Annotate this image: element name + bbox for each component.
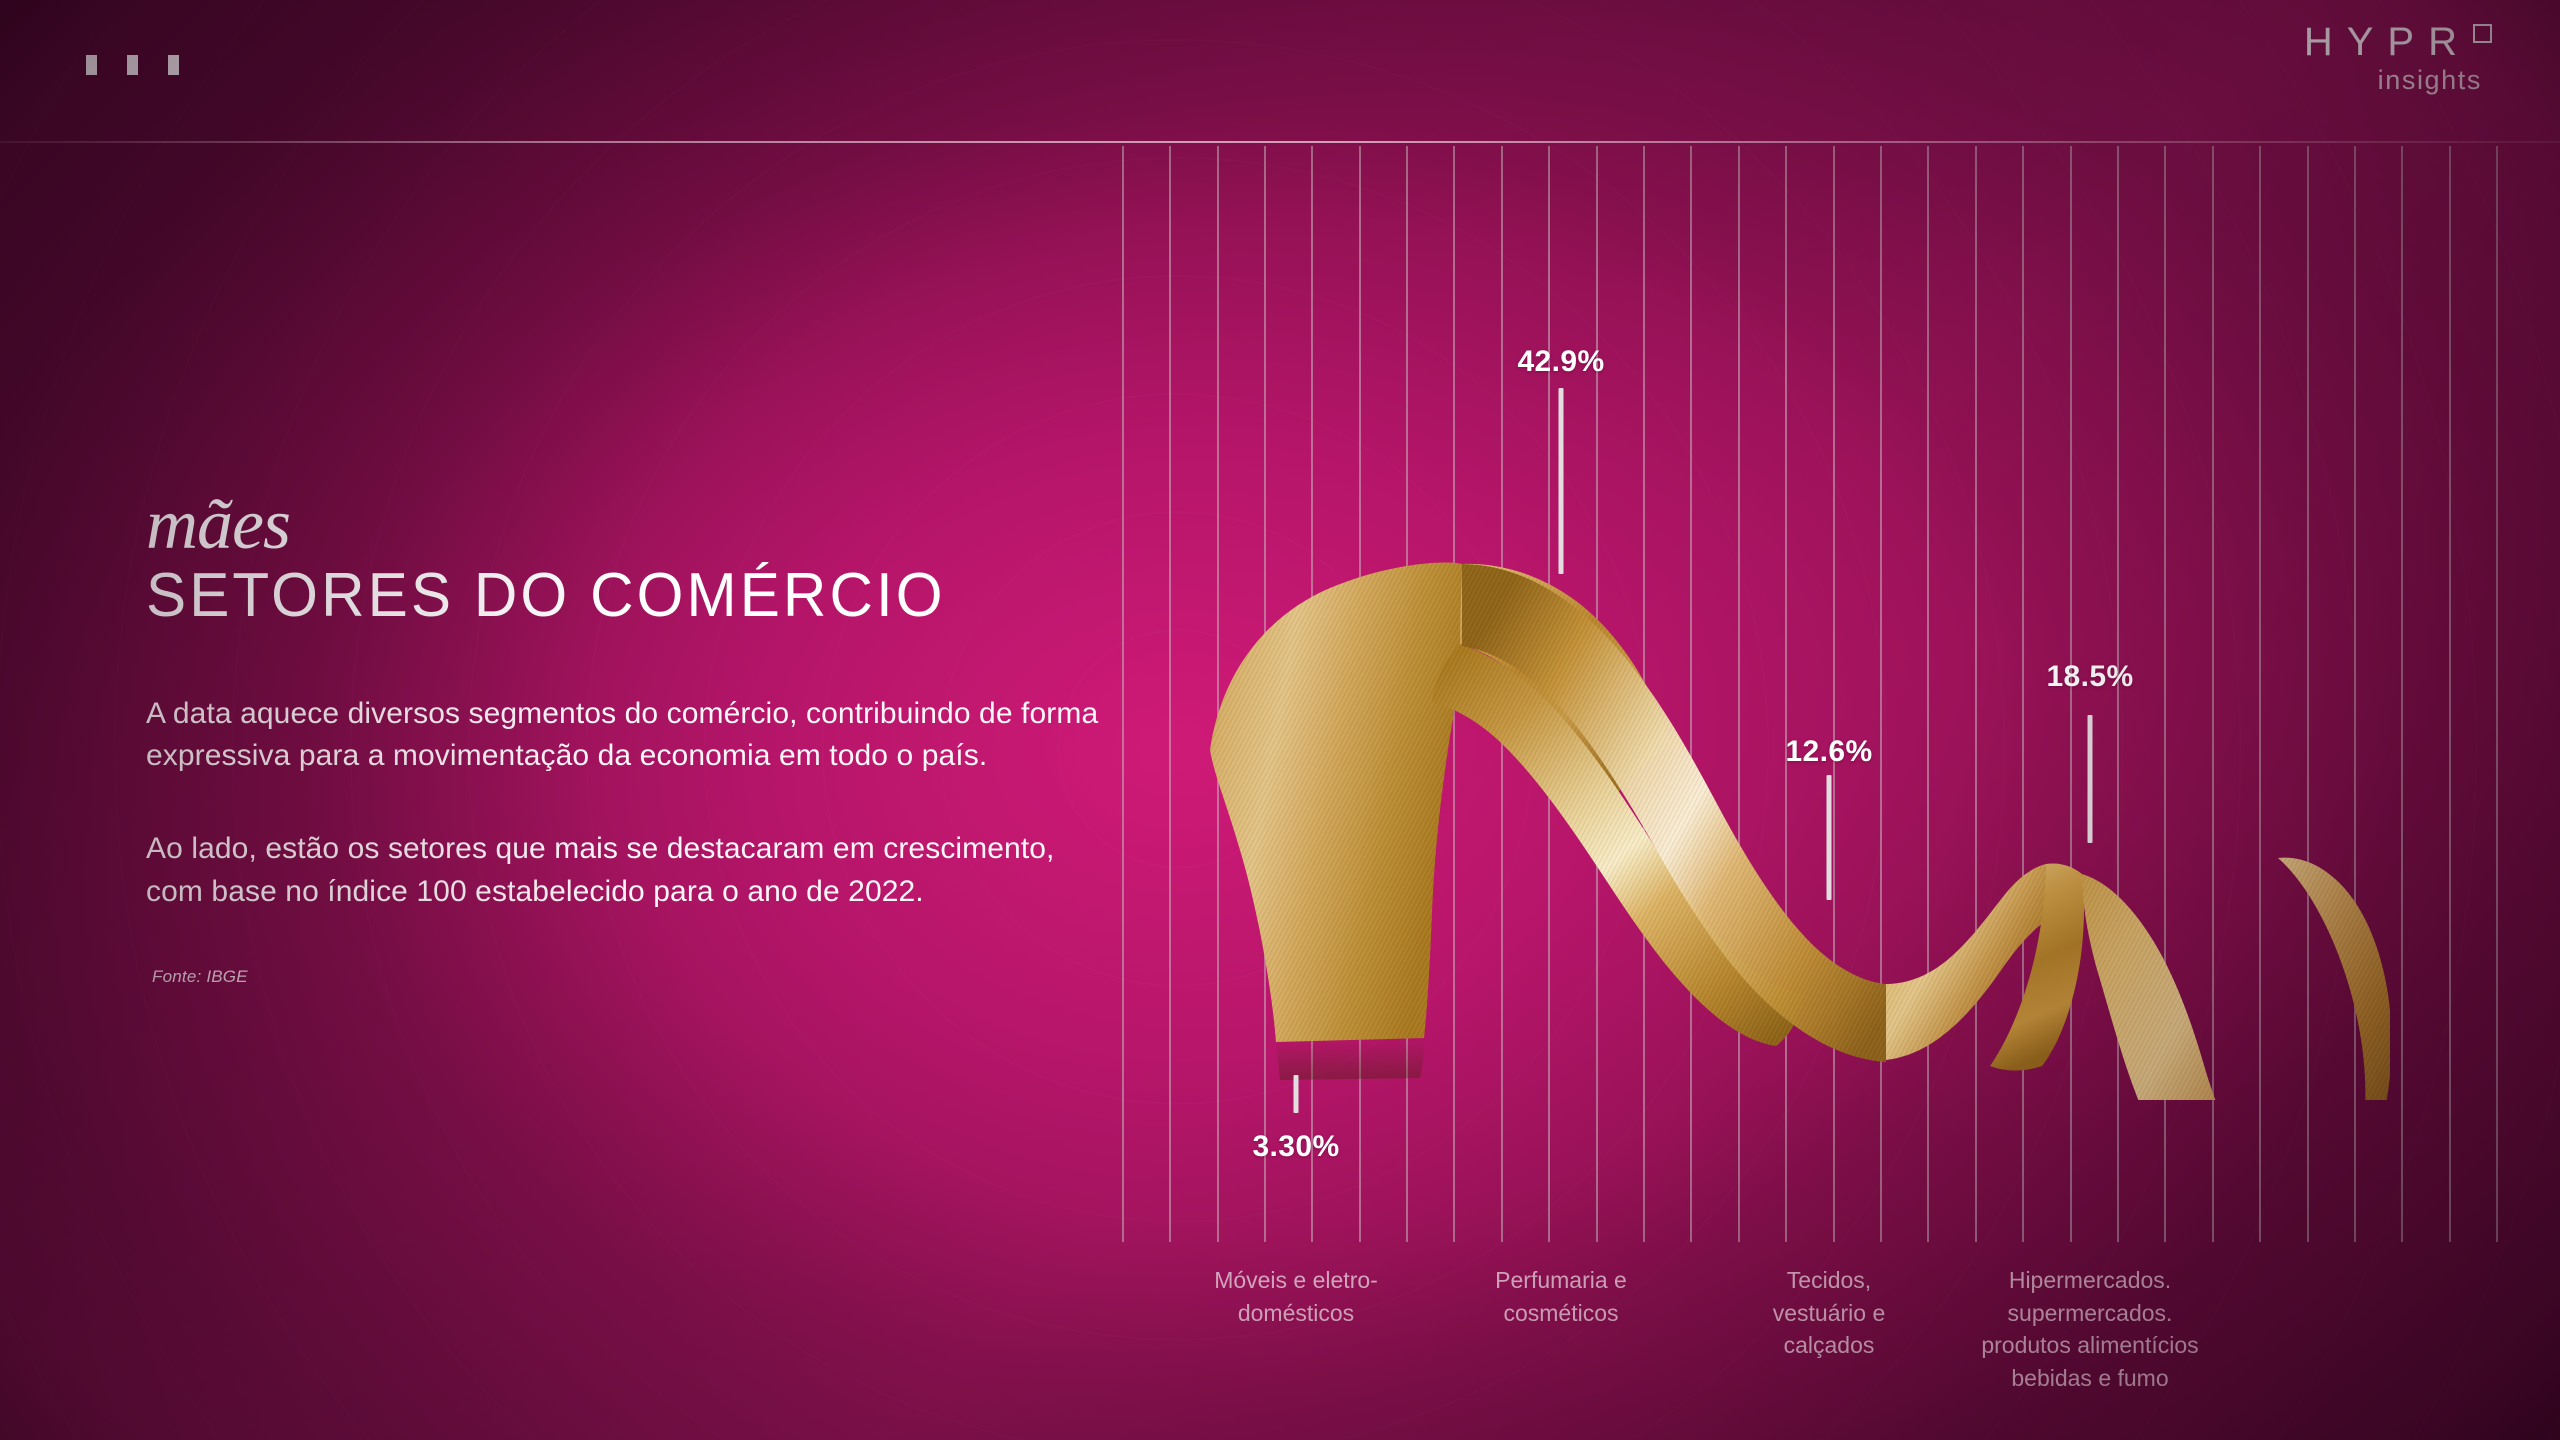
- gridline-26: [2307, 146, 2309, 1242]
- gridline-18: [1927, 146, 1929, 1242]
- leader-line-4: [2088, 715, 2093, 843]
- value-label-1: 3.30%: [1252, 1130, 1339, 1164]
- gridline-11: [1596, 146, 1598, 1242]
- category-label-line: bebidas e fumo: [2011, 1365, 2168, 1391]
- ribbon-segment-4: [1462, 564, 1886, 1062]
- logo-wordmark: HYPR: [2304, 22, 2492, 62]
- category-label-line: calçados: [1784, 1332, 1875, 1358]
- value-label-3: 12.6%: [1785, 735, 1872, 769]
- ribbon-segment-5-texture: [1886, 864, 2053, 1060]
- gridline-13: [1690, 146, 1692, 1242]
- brand-logo: HYPR insights: [2304, 22, 2492, 96]
- leader-line-3: [1827, 775, 1832, 900]
- gridline-9: [1501, 146, 1503, 1242]
- gridline-24: [2212, 146, 2214, 1242]
- gridline-23: [2164, 146, 2166, 1242]
- dot-2: [127, 55, 138, 75]
- dot-1: [86, 55, 97, 75]
- category-label-line: Móveis e eletro-: [1214, 1267, 1378, 1293]
- gridline-27: [2354, 146, 2356, 1242]
- value-label-2: 42.9%: [1517, 345, 1604, 379]
- category-label-line: Hipermercados.: [2009, 1267, 2171, 1293]
- gridline-16: [1833, 146, 1835, 1242]
- gridline-14: [1738, 146, 1740, 1242]
- gridline-10: [1548, 146, 1550, 1242]
- category-label-line: domésticos: [1238, 1300, 1354, 1326]
- gridline-3: [1217, 146, 1219, 1242]
- gridline-20: [2022, 146, 2024, 1242]
- gridline-28: [2401, 146, 2403, 1242]
- gridline-2: [1169, 146, 1171, 1242]
- square-outline-icon: [2473, 24, 2492, 43]
- ribbon-segment-7: [2082, 858, 2390, 1100]
- gridline-7: [1406, 146, 1408, 1242]
- logo-tagline: insights: [2304, 65, 2482, 96]
- ribbon-segment-6: [1990, 863, 2084, 1070]
- category-label-line: vestuário e: [1773, 1300, 1886, 1326]
- gridline-5: [1311, 146, 1313, 1242]
- gridline-29: [2449, 146, 2451, 1242]
- gridline-25: [2259, 146, 2261, 1242]
- category-label-line: cosméticos: [1503, 1300, 1618, 1326]
- category-label-2: Perfumaria ecosméticos: [1495, 1264, 1627, 1329]
- gridline-4: [1264, 146, 1266, 1242]
- category-label-1: Móveis e eletro-domésticos: [1214, 1264, 1378, 1329]
- three-dots-icon: [86, 55, 179, 75]
- ribbon-segment-2-texture: [1460, 564, 1672, 796]
- ribbon-segment-4-texture: [1462, 564, 1886, 1062]
- category-label-line: supermercados.: [2008, 1300, 2173, 1326]
- ribbon-segment-3-texture: [1432, 644, 1804, 1046]
- ribbon-segment-5: [1886, 864, 2053, 1060]
- eyebrow-title: mães: [146, 490, 1106, 558]
- header-divider: [0, 141, 2560, 143]
- gridline-12: [1643, 146, 1645, 1242]
- page-title: SETORES DO COMÉRCIO: [146, 564, 1077, 628]
- category-label-line: produtos alimentícios: [1981, 1332, 2198, 1358]
- body-paragraph-2: Ao lado, estão os setores que mais se de…: [146, 828, 1106, 913]
- gridline-15: [1785, 146, 1787, 1242]
- logo-wordmark-text: HYPR: [2304, 20, 2471, 64]
- leader-line-1: [1294, 1075, 1299, 1113]
- gridline-21: [2070, 146, 2072, 1242]
- gridline-22: [2117, 146, 2119, 1242]
- ribbon-segment-1-texture: [1210, 563, 1464, 1042]
- left-text-column: mães SETORES DO COMÉRCIO A data aquece d…: [146, 490, 1106, 987]
- gridline-6: [1359, 146, 1361, 1242]
- source-note: Fonte: IBGE: [152, 967, 1106, 987]
- gridline-19: [1975, 146, 1977, 1242]
- gridline-8: [1453, 146, 1455, 1242]
- body-paragraph-1: A data aquece diversos segmentos do comé…: [146, 693, 1106, 778]
- ribbon-segment-1: [1210, 563, 1464, 1042]
- ribbon-shadow-1: [1276, 1038, 1424, 1080]
- leader-line-2: [1559, 388, 1564, 574]
- slide-root: 3.30%Móveis e eletro-domésticos42.9%Perf…: [0, 0, 2560, 1440]
- dot-3: [168, 55, 179, 75]
- ribbon-svg: [1210, 560, 2390, 1100]
- gold-ribbon-graphic: [1210, 560, 2390, 1100]
- gridline-30: [2496, 146, 2498, 1242]
- gridline-1: [1122, 146, 1124, 1242]
- ribbon-segment-2: [1460, 564, 1672, 796]
- category-label-line: Perfumaria e: [1495, 1267, 1627, 1293]
- top-bar: HYPR insights: [0, 0, 2560, 143]
- category-label-line: Tecidos,: [1787, 1267, 1871, 1293]
- ribbon-segment-3: [1432, 644, 1804, 1046]
- category-label-4: Hipermercados.supermercados.produtos ali…: [1981, 1264, 2198, 1395]
- ribbon-segment-7-texture: [2082, 858, 2390, 1100]
- category-label-3: Tecidos,vestuário ecalçados: [1773, 1264, 1886, 1362]
- gridline-17: [1880, 146, 1882, 1242]
- value-label-4: 18.5%: [2046, 660, 2133, 694]
